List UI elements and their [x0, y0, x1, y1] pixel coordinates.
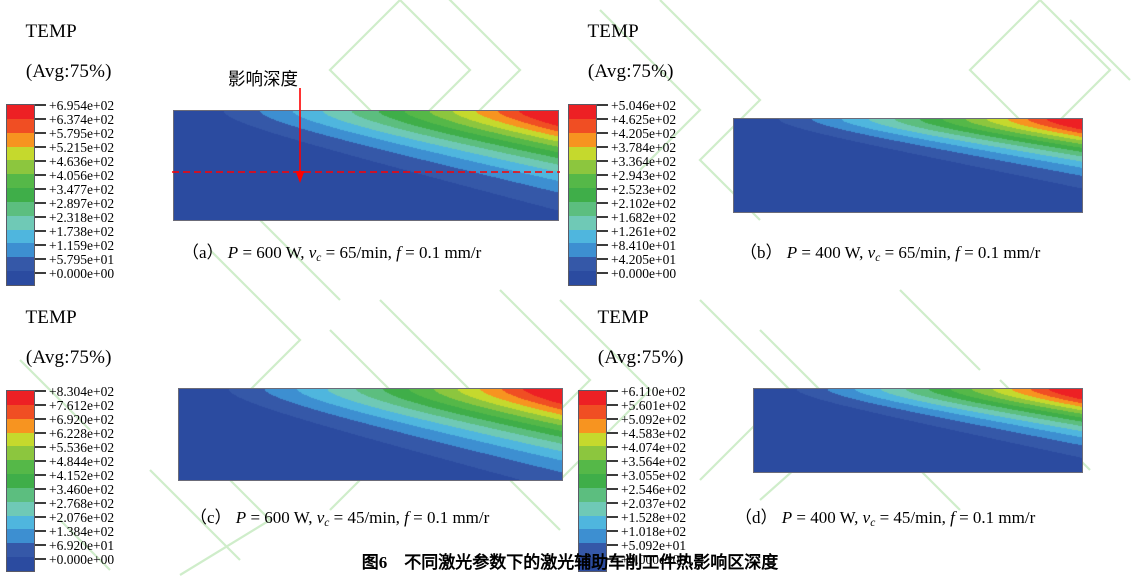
legend-tick-7: +3.460e+02: [35, 482, 114, 496]
contour-plot-d: [753, 388, 1083, 473]
tick-mark-icon: [597, 188, 608, 190]
tick-mark-icon: [35, 160, 46, 162]
tick-label: +5.215e+02: [49, 141, 114, 154]
caption-a-label: （a）: [182, 243, 224, 262]
legend-tick-5: +4.056e+02: [35, 168, 114, 182]
colorbar-band-0: [7, 105, 34, 119]
tick-mark-icon: [597, 132, 608, 134]
tick-label: +8.304e+02: [49, 385, 114, 398]
colorbar-band-3: [569, 147, 596, 161]
caption-c-f-value: = 0.1 mm/r: [409, 508, 489, 527]
caption-a: （a） P = 600 W, vc = 65/min, f = 0.1 mm/r: [182, 238, 481, 264]
legend-tick-9: +2.076e+02: [35, 510, 114, 524]
tick-label: +4.205e+01: [611, 253, 676, 266]
colorbar-band-10: [579, 529, 606, 543]
tick-label: +3.784e+02: [611, 141, 676, 154]
colorbar-band-10: [7, 529, 34, 543]
tick-mark-icon: [597, 258, 608, 260]
contour-plot-c: [178, 388, 563, 481]
legend-tick-10: +8.410e+01: [597, 238, 676, 252]
legend-tick-2: +4.205e+02: [597, 126, 676, 140]
colorbar-band-6: [7, 474, 34, 488]
legend-tick-7: +2.897e+02: [35, 196, 114, 210]
legend-title-line1: TEMP: [25, 307, 76, 328]
tick-mark-icon: [35, 460, 46, 462]
colorbar-band-9: [569, 230, 596, 244]
legend-tick-6: +3.477e+02: [35, 182, 114, 196]
legend-tick-9: +1.261e+02: [597, 224, 676, 238]
legend-title-line2: (Avg:75%): [26, 347, 112, 368]
tick-label: +5.601e+02: [621, 399, 686, 412]
legend-tick-4: +4.636e+02: [35, 154, 114, 168]
legend-title-line1: TEMP: [587, 21, 638, 42]
colorbar-band-8: [7, 502, 34, 516]
caption-b-f-value: = 0.1 mm/r: [960, 243, 1040, 262]
legend-title-a: TEMP (Avg:75%): [6, 2, 114, 102]
tick-label: +8.410e+01: [611, 239, 676, 252]
legend-tick-0: +6.110e+02: [607, 384, 686, 398]
legend-tick-3: +4.583e+02: [607, 426, 686, 440]
legend-tick-3: +3.784e+02: [597, 140, 676, 154]
colorbar-band-0: [569, 105, 596, 119]
tick-label: +4.844e+02: [49, 455, 114, 468]
caption-c: （c） P = 600 W, vc = 45/min, f = 0.1 mm/r: [190, 503, 489, 529]
colorbar-band-9: [579, 516, 606, 530]
legend-tick-3: +5.215e+02: [35, 140, 114, 154]
colorbar-band-3: [7, 433, 34, 447]
tick-label: +0.000e+00: [49, 267, 114, 280]
tick-label: +4.636e+02: [49, 155, 114, 168]
colorbar-band-6: [579, 474, 606, 488]
legend-tick-4: +4.074e+02: [607, 440, 686, 454]
colorbar-band-0: [7, 391, 34, 405]
colorbar-band-10: [569, 243, 596, 257]
caption-b-label: （b）: [740, 243, 783, 262]
colorbar-band-12: [7, 271, 34, 285]
legend-tick-6: +3.055e+02: [607, 468, 686, 482]
caption-b-p-symbol: P: [787, 243, 797, 262]
tick-mark-icon: [35, 516, 46, 518]
tick-label: +1.738e+02: [49, 225, 114, 238]
tick-mark-icon: [607, 418, 618, 420]
caption-b: （b） P = 400 W, vc = 65/min, f = 0.1 mm/r: [740, 238, 1040, 264]
legend-tick-1: +6.374e+02: [35, 112, 114, 126]
legend-title-line2: (Avg:75%): [26, 61, 112, 82]
legend-title-line1: TEMP: [25, 21, 76, 42]
tick-mark-icon: [597, 216, 608, 218]
caption-b-p-value: = 400 W,: [797, 243, 868, 262]
colorbar-b: [568, 104, 597, 286]
colorbar-band-2: [7, 133, 34, 147]
tick-mark-icon: [35, 404, 46, 406]
tick-label: +5.795e+02: [49, 127, 114, 140]
colorbar-a: [6, 104, 35, 286]
tick-mark-icon: [35, 104, 46, 106]
legend-tick-8: +2.768e+02: [35, 496, 114, 510]
caption-d-p-value: = 400 W,: [792, 508, 863, 527]
tick-label: +2.897e+02: [49, 197, 114, 210]
legend-panel-a: TEMP (Avg:75%) +6.954e+02+6.374e+02+5.79…: [6, 2, 114, 286]
tick-label: +0.000e+00: [611, 267, 676, 280]
legend-tick-8: +2.037e+02: [607, 496, 686, 510]
tick-mark-icon: [607, 530, 618, 532]
colorbar-band-2: [569, 133, 596, 147]
tick-mark-icon: [35, 230, 46, 232]
tick-mark-icon: [607, 460, 618, 462]
tick-label: +4.056e+02: [49, 169, 114, 182]
tick-mark-icon: [607, 544, 618, 546]
tick-mark-icon: [35, 502, 46, 504]
tick-mark-icon: [35, 446, 46, 448]
legend-tick-0: +8.304e+02: [35, 384, 114, 398]
colorbar-band-8: [7, 216, 34, 230]
legend-tick-2: +6.920e+02: [35, 412, 114, 426]
caption-d: （d） P = 400 W, vc = 45/min, f = 0.1 mm/r: [735, 503, 1035, 529]
legend-tick-9: +1.528e+02: [607, 510, 686, 524]
tick-mark-icon: [607, 390, 618, 392]
tick-mark-icon: [597, 118, 608, 120]
tick-mark-icon: [35, 244, 46, 246]
legend-tick-12: +0.000e+00: [597, 266, 676, 280]
tick-label: +2.102e+02: [611, 197, 676, 210]
tick-label: +3.477e+02: [49, 183, 114, 196]
tick-mark-icon: [35, 544, 46, 546]
legend-title-line2: (Avg:75%): [588, 61, 674, 82]
caption-c-p-value: = 600 W,: [246, 508, 317, 527]
legend-ticks-b: +5.046e+02+4.625e+02+4.205e+02+3.784e+02…: [597, 98, 676, 286]
tick-mark-icon: [35, 390, 46, 392]
colorbar-band-10: [7, 243, 34, 257]
tick-mark-icon: [597, 146, 608, 148]
legend-tick-8: +1.682e+02: [597, 210, 676, 224]
tick-mark-icon: [35, 216, 46, 218]
tick-mark-icon: [35, 418, 46, 420]
tick-mark-icon: [597, 230, 608, 232]
tick-mark-icon: [35, 202, 46, 204]
legend-tick-2: +5.795e+02: [35, 126, 114, 140]
tick-label: +6.920e+02: [49, 413, 114, 426]
tick-label: +6.110e+02: [621, 385, 686, 398]
tick-label: +4.074e+02: [621, 441, 686, 454]
contour-plot-b: [733, 118, 1083, 213]
tick-mark-icon: [35, 432, 46, 434]
tick-label: +2.076e+02: [49, 511, 114, 524]
caption-c-label: （c）: [190, 508, 232, 527]
caption-c-v-value: = 45/min,: [329, 508, 404, 527]
tick-mark-icon: [35, 118, 46, 120]
tick-label: +2.768e+02: [49, 497, 114, 510]
tick-mark-icon: [597, 244, 608, 246]
tick-mark-icon: [607, 488, 618, 490]
caption-b-v-value: = 65/min,: [880, 243, 955, 262]
colorbar-band-4: [7, 160, 34, 174]
legend-tick-1: +5.601e+02: [607, 398, 686, 412]
depth-reference-line: [172, 168, 562, 176]
legend-tick-6: +2.523e+02: [597, 182, 676, 196]
tick-label: +1.528e+02: [621, 511, 686, 524]
tick-label: +3.564e+02: [621, 455, 686, 468]
legend-tick-9: +1.738e+02: [35, 224, 114, 238]
legend-tick-11: +5.795e+01: [35, 252, 114, 266]
legend-tick-0: +5.046e+02: [597, 98, 676, 112]
tick-label: +2.943e+02: [611, 169, 676, 182]
legend-tick-5: +2.943e+02: [597, 168, 676, 182]
legend-ticks-d: +6.110e+02+5.601e+02+5.092e+02+4.583e+02…: [607, 384, 686, 572]
legend-tick-10: +1.384e+02: [35, 524, 114, 538]
caption-a-p-symbol: P: [228, 243, 238, 262]
legend-panel-c: TEMP (Avg:75%) +8.304e+02+7.612e+02+6.92…: [6, 288, 114, 572]
colorbar-band-1: [7, 119, 34, 133]
tick-mark-icon: [607, 502, 618, 504]
figure-caption: 图6 不同激光参数下的激光辅助车削工件热影响区深度: [0, 548, 1140, 573]
tick-label: +2.037e+02: [621, 497, 686, 510]
tick-label: +6.374e+02: [49, 113, 114, 126]
legend-tick-2: +5.092e+02: [607, 412, 686, 426]
tick-label: +6.228e+02: [49, 427, 114, 440]
legend-panel-d: TEMP (Avg:75%) +6.110e+02+5.601e+02+5.09…: [578, 288, 686, 572]
legend-tick-5: +3.564e+02: [607, 454, 686, 468]
colorbar-band-3: [579, 433, 606, 447]
caption-d-f-value: = 0.1 mm/r: [955, 508, 1035, 527]
colorbar-band-4: [569, 160, 596, 174]
tick-mark-icon: [35, 258, 46, 260]
caption-d-p-symbol: P: [782, 508, 792, 527]
colorbar-band-9: [7, 516, 34, 530]
legend-tick-7: +2.102e+02: [597, 196, 676, 210]
tick-mark-icon: [597, 104, 608, 106]
tick-mark-icon: [597, 174, 608, 176]
tick-mark-icon: [35, 132, 46, 134]
tick-label: +2.546e+02: [621, 483, 686, 496]
tick-label: +1.682e+02: [611, 211, 676, 224]
tick-mark-icon: [35, 146, 46, 148]
tick-label: +7.612e+02: [49, 399, 114, 412]
colorbar-band-9: [7, 230, 34, 244]
tick-label: +1.384e+02: [49, 525, 114, 538]
tick-label: +3.055e+02: [621, 469, 686, 482]
legend-tick-7: +2.546e+02: [607, 482, 686, 496]
legend-tick-1: +4.625e+02: [597, 112, 676, 126]
legend-title-b: TEMP (Avg:75%): [568, 2, 676, 102]
tick-label: +1.261e+02: [611, 225, 676, 238]
colorbar-band-11: [7, 257, 34, 271]
tick-mark-icon: [35, 474, 46, 476]
tick-label: +2.318e+02: [49, 211, 114, 224]
legend-tick-1: +7.612e+02: [35, 398, 114, 412]
colorbar-band-5: [579, 460, 606, 474]
legend-tick-6: +4.152e+02: [35, 468, 114, 482]
colorbar-band-7: [7, 488, 34, 502]
colorbar-band-1: [569, 119, 596, 133]
legend-tick-12: +0.000e+00: [35, 266, 114, 280]
tick-label: +5.795e+01: [49, 253, 114, 266]
tick-mark-icon: [597, 202, 608, 204]
tick-label: +4.152e+02: [49, 469, 114, 482]
tick-label: +5.046e+02: [611, 99, 676, 112]
colorbar-band-2: [579, 419, 606, 433]
tick-mark-icon: [35, 188, 46, 190]
tick-mark-icon: [35, 174, 46, 176]
contour-plot-a: [173, 110, 559, 221]
tick-mark-icon: [607, 474, 618, 476]
colorbar-band-12: [569, 271, 596, 285]
colorbar-d: [578, 390, 607, 572]
legend-tick-10: +1.018e+02: [607, 524, 686, 538]
colorbar-band-5: [7, 174, 34, 188]
colorbar-band-5: [569, 174, 596, 188]
tick-mark-icon: [35, 488, 46, 490]
colorbar-band-11: [569, 257, 596, 271]
tick-label: +1.159e+02: [49, 239, 114, 252]
colorbar-band-4: [7, 446, 34, 460]
colorbar-band-6: [7, 188, 34, 202]
legend-tick-3: +6.228e+02: [35, 426, 114, 440]
legend-ticks-c: +8.304e+02+7.612e+02+6.920e+02+6.228e+02…: [35, 384, 114, 572]
tick-mark-icon: [35, 272, 46, 274]
legend-title-line2: (Avg:75%): [598, 347, 684, 368]
tick-mark-icon: [607, 432, 618, 434]
colorbar-band-0: [579, 391, 606, 405]
tick-label: +3.460e+02: [49, 483, 114, 496]
tick-label: +5.092e+02: [621, 413, 686, 426]
legend-title-c: TEMP (Avg:75%): [6, 288, 114, 388]
tick-label: +3.364e+02: [611, 155, 676, 168]
tick-label: +1.018e+02: [621, 525, 686, 538]
legend-tick-10: +1.159e+02: [35, 238, 114, 252]
colorbar-band-1: [579, 405, 606, 419]
tick-mark-icon: [607, 446, 618, 448]
caption-d-label: （d）: [735, 508, 778, 527]
colorbar-c: [6, 390, 35, 572]
colorbar-band-7: [569, 202, 596, 216]
legend-tick-4: +5.536e+02: [35, 440, 114, 454]
tick-label: +5.536e+02: [49, 441, 114, 454]
colorbar-band-8: [569, 216, 596, 230]
legend-title-d: TEMP (Avg:75%): [578, 288, 686, 388]
colorbar-band-5: [7, 460, 34, 474]
tick-mark-icon: [597, 272, 608, 274]
caption-a-p-value: = 600 W,: [238, 243, 309, 262]
legend-ticks-a: +6.954e+02+6.374e+02+5.795e+02+5.215e+02…: [35, 98, 114, 286]
legend-tick-5: +4.844e+02: [35, 454, 114, 468]
colorbar-band-6: [569, 188, 596, 202]
tick-label: +2.523e+02: [611, 183, 676, 196]
tick-label: +4.625e+02: [611, 113, 676, 126]
caption-a-v-value: = 65/min,: [321, 243, 396, 262]
legend-tick-8: +2.318e+02: [35, 210, 114, 224]
legend-tick-0: +6.954e+02: [35, 98, 114, 112]
legend-panel-b: TEMP (Avg:75%) +5.046e+02+4.625e+02+4.20…: [568, 2, 676, 286]
tick-mark-icon: [607, 404, 618, 406]
legend-tick-11: +4.205e+01: [597, 252, 676, 266]
tick-label: +4.205e+02: [611, 127, 676, 140]
colorbar-band-2: [7, 419, 34, 433]
tick-mark-icon: [607, 516, 618, 518]
tick-label: +4.583e+02: [621, 427, 686, 440]
colorbar-band-8: [579, 502, 606, 516]
colorbar-band-3: [7, 147, 34, 161]
caption-c-p-symbol: P: [236, 508, 246, 527]
colorbar-band-4: [579, 446, 606, 460]
caption-d-v-value: = 45/min,: [875, 508, 950, 527]
colorbar-band-7: [579, 488, 606, 502]
legend-tick-4: +3.364e+02: [597, 154, 676, 168]
colorbar-band-7: [7, 202, 34, 216]
tick-mark-icon: [597, 160, 608, 162]
caption-a-f-value: = 0.1 mm/r: [401, 243, 481, 262]
legend-title-line1: TEMP: [597, 307, 648, 328]
colorbar-band-1: [7, 405, 34, 419]
tick-mark-icon: [35, 530, 46, 532]
tick-label: +6.954e+02: [49, 99, 114, 112]
